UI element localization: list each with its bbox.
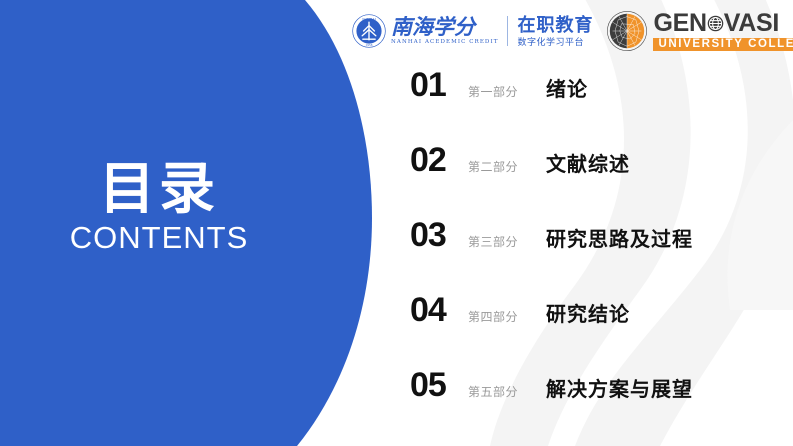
agenda-number: 05 xyxy=(410,366,468,405)
genovasi-name: GEN VASI xyxy=(653,11,793,36)
svg-text:1958: 1958 xyxy=(366,43,373,47)
nanhai-logo: NANHAI 1958 南海学分 NANHAI ACEDEMIC CREDIT xyxy=(352,14,498,48)
agenda-item-04[interactable]: 04 第四部分 研究结论 xyxy=(410,291,780,366)
agenda-title: 研究结论 xyxy=(546,298,630,327)
genovasi-name-part1: GEN xyxy=(653,11,706,36)
nanhai-university-seal-icon: NANHAI 1958 xyxy=(352,14,386,48)
page-title-cn: 目录 xyxy=(0,160,318,219)
logo-divider xyxy=(507,16,508,46)
tagline-main: 在职教育 xyxy=(517,16,593,34)
logo-bar: NANHAI 1958 南海学分 NANHAI ACEDEMIC CREDIT … xyxy=(352,8,793,54)
nanhai-name-cn: 南海学分 xyxy=(391,16,498,37)
agenda-title: 解决方案与展望 xyxy=(546,373,693,402)
genovasi-logo: GEN VASI UNIVERSITY COLLEGE xyxy=(607,11,793,52)
agenda-number: 03 xyxy=(410,216,468,255)
agenda-list: 01 第一部分 绪论 02 第二部分 文献综述 03 第三部分 研究思路及过程 … xyxy=(410,66,780,441)
tagline-sub: 数字化学习平台 xyxy=(517,38,593,47)
genovasi-globe-seal-icon xyxy=(607,11,647,51)
agenda-number: 04 xyxy=(410,291,468,330)
agenda-part-label: 第二部分 xyxy=(468,158,546,175)
agenda-item-02[interactable]: 02 第二部分 文献综述 xyxy=(410,141,780,216)
agenda-title: 研究思路及过程 xyxy=(546,223,693,252)
genovasi-wordmark: GEN VASI UNIVERSITY COLLEGE xyxy=(653,11,793,52)
genovasi-subtitle: UNIVERSITY COLLEGE xyxy=(653,38,793,52)
globe-icon xyxy=(707,15,724,32)
agenda-number: 02 xyxy=(410,141,468,180)
svg-text:NANHAI: NANHAI xyxy=(362,17,376,21)
agenda-title: 文献综述 xyxy=(546,148,630,177)
agenda-part-label: 第五部分 xyxy=(468,383,546,400)
agenda-number: 01 xyxy=(410,66,468,105)
title-block: 目录 CONTENTS xyxy=(0,160,318,255)
agenda-item-01[interactable]: 01 第一部分 绪论 xyxy=(410,66,780,141)
page-title-en: CONTENTS xyxy=(0,221,318,255)
slide-canvas: 目录 CONTENTS NANHAI 1958 南海学分 NANHAI ACED… xyxy=(0,0,793,446)
nanhai-wordmark: 南海学分 NANHAI ACEDEMIC CREDIT xyxy=(391,16,498,46)
genovasi-name-part2: VASI xyxy=(724,11,779,36)
nanhai-tagline: 在职教育 数字化学习平台 xyxy=(517,16,593,47)
nanhai-name-en: NANHAI ACEDEMIC CREDIT xyxy=(391,40,498,46)
agenda-title: 绪论 xyxy=(546,73,588,102)
agenda-part-label: 第四部分 xyxy=(468,308,546,325)
agenda-item-05[interactable]: 05 第五部分 解决方案与展望 xyxy=(410,366,780,441)
agenda-part-label: 第一部分 xyxy=(468,83,546,100)
agenda-item-03[interactable]: 03 第三部分 研究思路及过程 xyxy=(410,216,780,291)
agenda-part-label: 第三部分 xyxy=(468,233,546,250)
